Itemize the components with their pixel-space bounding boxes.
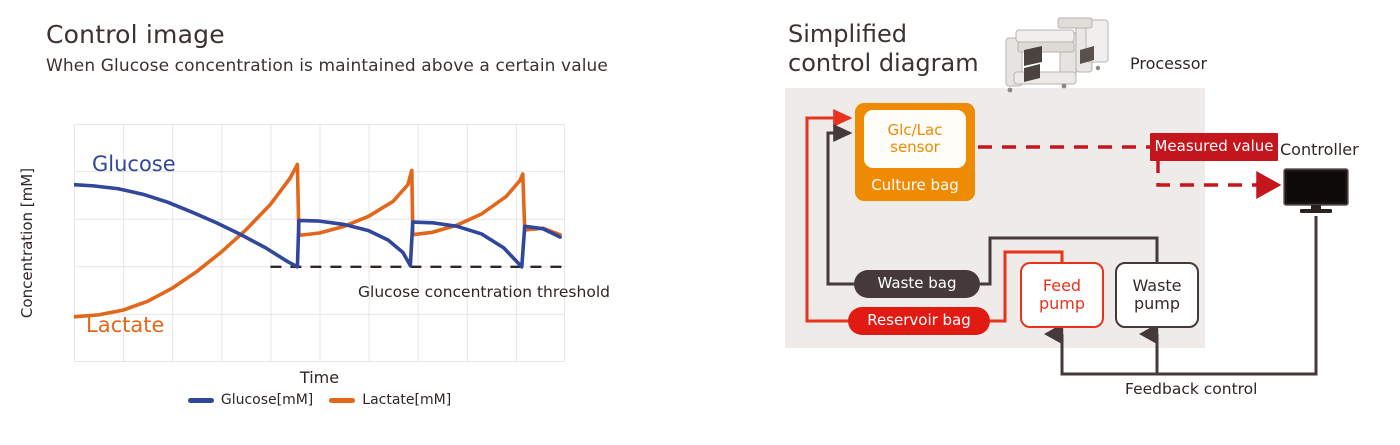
legend-label-glucose: Glucose[mM] [221, 392, 313, 408]
controller-monitor-icon[interactable] [1283, 168, 1349, 214]
waste-bag-label: Waste bag [878, 275, 957, 292]
processor-photo [998, 12, 1118, 98]
diagram-title-line1: Simplified [788, 20, 979, 49]
legend-label-lactate: Lactate[mM] [362, 392, 451, 408]
waste-pump-label-line1: Waste [1132, 277, 1181, 295]
chart-legend: Glucose[mM] Lactate[mM] [74, 392, 565, 408]
threshold-label: Glucose concentration threshold [358, 283, 610, 301]
node-waste-pump[interactable]: Waste pump [1115, 262, 1199, 328]
simplified-control-diagram-panel: Simplified control diagram [700, 0, 1400, 445]
feed-pump-label-line1: Feed [1039, 277, 1085, 295]
y-axis-label: Concentration [mM] [18, 0, 36, 128]
diagram-title: Simplified control diagram [788, 20, 979, 79]
measured-value-badge: Measured value [1150, 133, 1278, 161]
legend-swatch-lactate [329, 398, 355, 403]
monitor-icon [1283, 168, 1349, 214]
x-axis-label: Time [74, 368, 565, 387]
node-feed-pump[interactable]: Feed pump [1020, 262, 1104, 328]
control-image-chart-panel: Control image When Glucose concentration… [0, 0, 700, 445]
page-subtitle: When Glucose concentration is maintained… [46, 56, 608, 76]
node-glc-lac-sensor[interactable]: Glc/Lac sensor [864, 110, 966, 168]
page-title: Control image [46, 20, 225, 49]
legend-item-glucose: Glucose[mM] [188, 392, 313, 408]
node-waste-bag[interactable]: Waste bag [854, 270, 980, 298]
feedback-control-label: Feedback control [1125, 380, 1257, 398]
controller-label: Controller [1280, 140, 1359, 159]
series-line-glucose [74, 185, 560, 267]
node-reservoir-bag[interactable]: Reservoir bag [848, 307, 990, 335]
processor-image-svg [998, 12, 1118, 98]
culture-bag-label: Culture bag [871, 177, 959, 194]
waste-pump-label-line2: pump [1132, 295, 1181, 313]
measured-value-label: Measured value [1154, 138, 1273, 155]
diagram-title-line2: control diagram [788, 49, 979, 78]
glc-lac-sensor-label-line1: Glc/Lac [888, 122, 943, 139]
legend-item-lactate: Lactate[mM] [329, 392, 451, 408]
feed-pump-label-line2: pump [1039, 295, 1085, 313]
reservoir-bag-label: Reservoir bag [867, 312, 971, 329]
glc-lac-sensor-label-line2: sensor [888, 139, 943, 156]
series-label-glucose: Glucose [92, 152, 176, 176]
processor-label: Processor [1130, 54, 1207, 73]
legend-swatch-glucose [188, 398, 214, 403]
series-label-lactate: Lactate [86, 313, 164, 337]
